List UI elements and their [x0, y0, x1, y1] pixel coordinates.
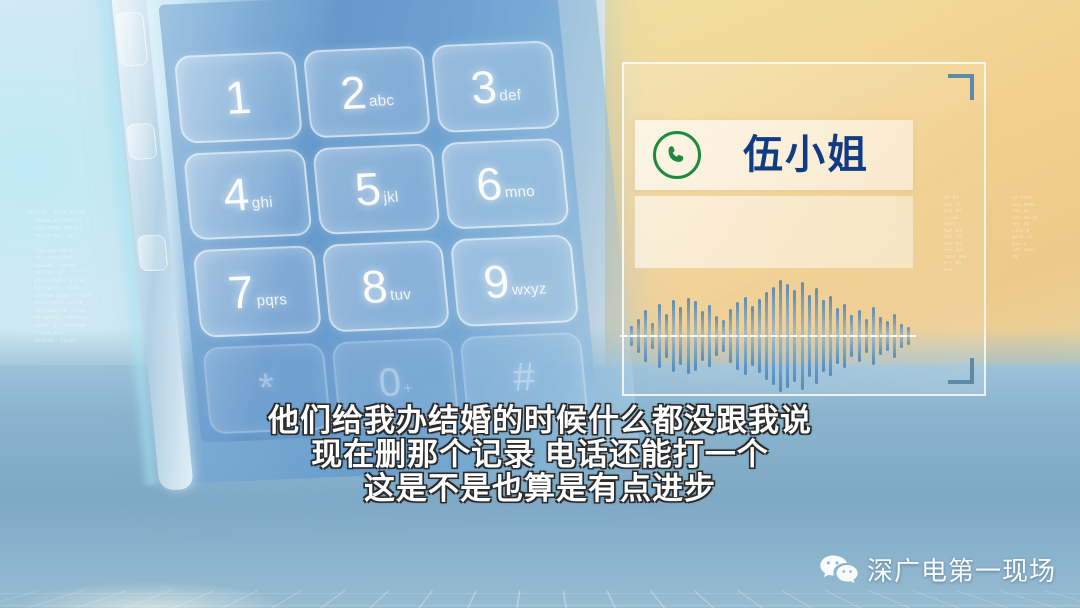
- floor-glow: [22, 569, 346, 608]
- dialpad-key-letters: abc: [368, 92, 395, 110]
- dialpad-key-2[interactable]: 2abc: [302, 46, 431, 138]
- dialpad-key-digit: 3: [469, 63, 499, 110]
- phone-side-button-low: [137, 234, 169, 271]
- dialpad-key-5[interactable]: 5jkl: [312, 143, 441, 235]
- dialpad-key-glyph: 5jkl: [353, 165, 400, 213]
- dialpad-key-glyph: 8tuv: [359, 262, 412, 310]
- dialpad-key-letters: tuv: [389, 286, 412, 304]
- dialpad-key-glyph: *: [257, 368, 276, 408]
- dialpad-key-glyph: 4ghi: [221, 170, 274, 218]
- dialpad-key-7[interactable]: 7pqrs: [193, 245, 322, 337]
- dialpad-key-glyph: 1: [223, 74, 253, 121]
- waveform-center-line: [620, 335, 916, 337]
- corner-bracket-bottom-right-icon: [948, 358, 974, 384]
- caller-name-panel: 伍小姐: [635, 120, 913, 190]
- dialpad-key-9[interactable]: 9wxyz: [450, 234, 579, 326]
- dialpad-key-glyph: #: [511, 357, 537, 398]
- dialpad-key-hash[interactable]: #: [460, 331, 589, 423]
- dialpad-key-letters: pqrs: [256, 291, 288, 309]
- phone-handset-icon: [653, 131, 701, 179]
- watermark-label: 深广电第一现场: [867, 551, 1056, 588]
- dialpad-key-digit: 8: [359, 263, 389, 310]
- phone-screen: 12abc3def4ghi5jkl6mno7pqrs8tuv9wxyz*0+#: [158, 0, 599, 443]
- dialpad-key-4[interactable]: 4ghi: [183, 148, 312, 240]
- dialpad-key-letters: def: [499, 86, 522, 104]
- dialpad-key-8[interactable]: 8tuv: [321, 240, 450, 332]
- dialpad-key-3[interactable]: 3def: [431, 40, 560, 132]
- dialpad-key-digit: 5: [353, 166, 383, 213]
- dialpad-key-digit: 0: [377, 363, 403, 404]
- dialpad-key-6[interactable]: 6mno: [441, 137, 570, 229]
- caller-name-label: 伍小姐: [743, 135, 869, 175]
- channel-watermark: 深广电第一现场: [819, 551, 1056, 588]
- dialpad-key-digit: 2: [338, 69, 368, 116]
- dialpad-key-digit: 4: [221, 171, 251, 218]
- dialpad-key-1[interactable]: 1: [173, 51, 302, 143]
- dialpad-key-letters: +: [403, 380, 414, 397]
- dialpad-key-star[interactable]: *: [202, 342, 331, 434]
- dialpad-key-glyph: 7pqrs: [226, 267, 289, 315]
- phone-side-button-mid: [126, 123, 158, 160]
- dialpad[interactable]: 12abc3def4ghi5jkl6mno7pqrs8tuv9wxyz*0+#: [173, 40, 588, 434]
- dialpad-key-letters: ghi: [251, 194, 274, 212]
- phone-illustration: 12abc3def4ghi5jkl6mno7pqrs8tuv9wxyz*0+#: [60, 0, 671, 487]
- dialpad-key-digit: 9: [481, 258, 511, 305]
- dialpad-key-digit: #: [511, 357, 537, 398]
- audio-waveform: [628, 280, 912, 392]
- caller-detail-panel: [635, 196, 913, 268]
- screen-capture: 0x1A4F init_trace modem.attach(0) sim.re…: [0, 0, 1080, 608]
- dialpad-key-letters: jkl: [383, 189, 400, 207]
- dialpad-key-digit: 7: [226, 269, 256, 316]
- corner-bracket-top-right-icon: [948, 74, 974, 100]
- dialpad-key-digit: 6: [474, 161, 504, 208]
- phone-volume-button: [115, 11, 148, 66]
- dialpad-key-digit: 1: [223, 74, 253, 121]
- dialpad-key-letters: mno: [504, 183, 536, 201]
- dialpad-key-glyph: 9wxyz: [481, 256, 548, 304]
- dialpad-key-glyph: 6mno: [474, 159, 536, 207]
- dialpad-key-digit: *: [257, 368, 276, 408]
- wechat-icon: [819, 553, 859, 587]
- dialpad-key-glyph: 3def: [469, 62, 523, 110]
- dialpad-key-glyph: 2abc: [338, 68, 395, 116]
- dialpad-key-glyph: 0+: [377, 362, 414, 403]
- dialpad-key-letters: wxyz: [511, 280, 547, 298]
- dialpad-key-0[interactable]: 0+: [331, 337, 460, 429]
